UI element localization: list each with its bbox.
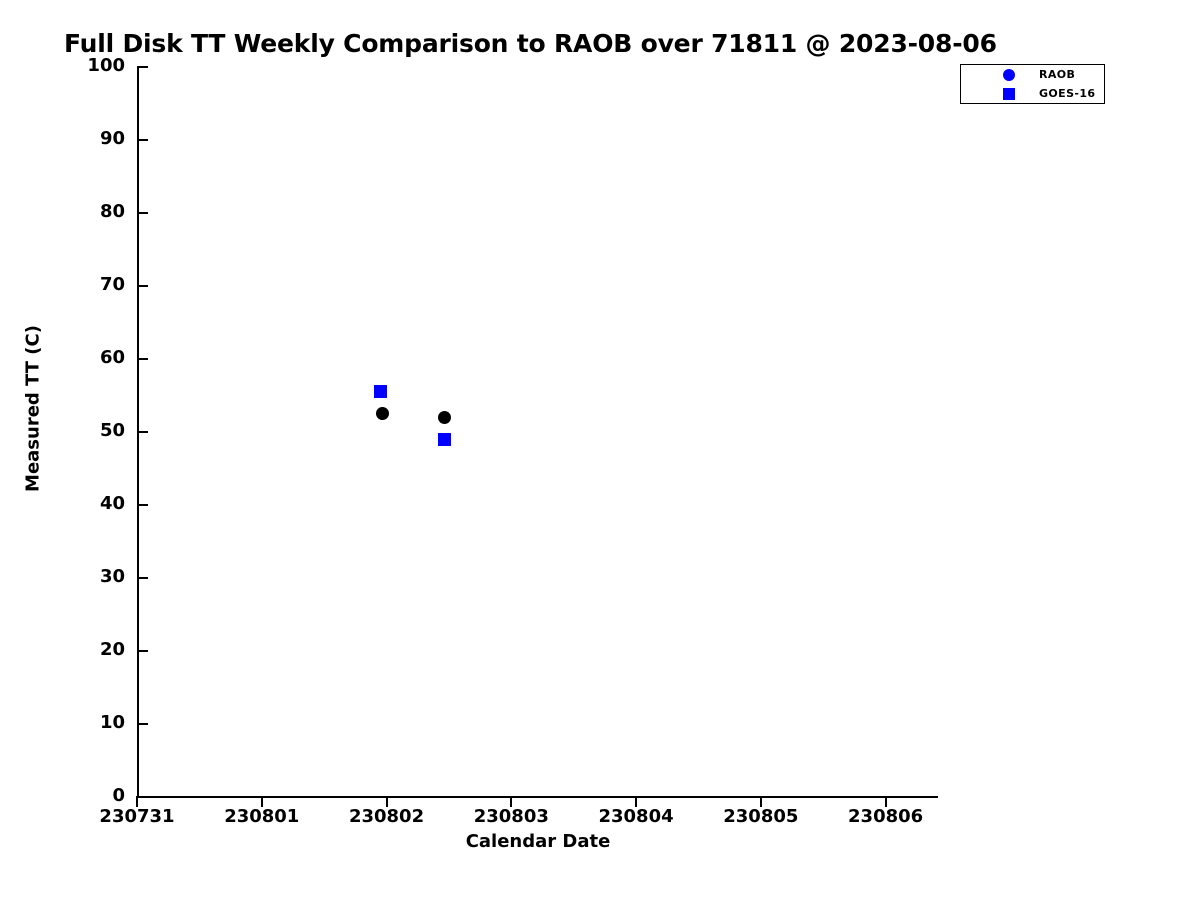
legend-label: GOES-16 — [1039, 87, 1096, 100]
y-tick-label: 20 — [15, 639, 125, 660]
circle-marker-icon — [1003, 69, 1015, 81]
chart-figure: Full Disk TT Weekly Comparison to RAOB o… — [0, 0, 1200, 900]
plot-area — [137, 67, 938, 797]
x-tick-label: 230806 — [806, 806, 966, 827]
legend-label: RAOB — [1039, 68, 1075, 81]
legend-row: RAOB — [961, 66, 1104, 85]
data-point-goes-16 — [374, 385, 387, 398]
y-tick-label: 70 — [15, 274, 125, 295]
legend-marker-goes-16 — [1001, 85, 1017, 104]
data-point-goes-16 — [438, 433, 451, 446]
y-tick-label: 100 — [15, 55, 125, 76]
y-tick-label: 80 — [15, 201, 125, 222]
square-marker-icon — [1003, 88, 1015, 100]
chart-legend: RAOBGOES-16 — [960, 64, 1105, 104]
data-point-raob — [376, 407, 389, 420]
legend-marker-raob — [1001, 66, 1017, 85]
x-axis-label: Calendar Date — [0, 831, 1076, 852]
chart-title: Full Disk TT Weekly Comparison to RAOB o… — [64, 29, 997, 58]
y-axis-label: Measured TT (C) — [23, 309, 44, 509]
y-tick-label: 0 — [15, 785, 125, 806]
data-point-raob — [438, 411, 451, 424]
y-tick-label: 10 — [15, 712, 125, 733]
y-tick-label: 90 — [15, 128, 125, 149]
y-tick-label: 30 — [15, 566, 125, 587]
legend-row: GOES-16 — [961, 85, 1104, 104]
